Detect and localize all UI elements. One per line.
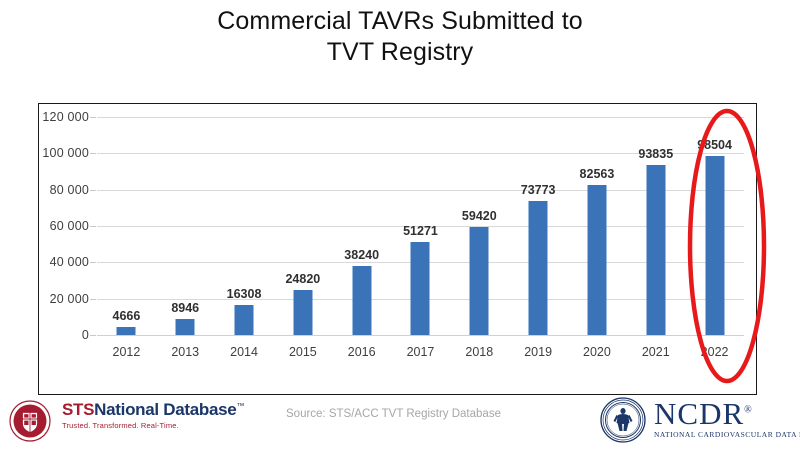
bar-group: 938352021: [626, 117, 685, 335]
y-axis-tick-label: 80 000: [50, 183, 89, 197]
bar-group: 89462013: [156, 117, 215, 335]
x-axis-tick-label: 2017: [407, 345, 435, 359]
bar[interactable]: [646, 165, 665, 335]
bar-value-label: 93835: [638, 147, 673, 161]
bar-value-label: 73773: [521, 183, 556, 197]
y-axis-tick-label: 0: [82, 328, 89, 342]
acc-seal-icon: [600, 397, 646, 443]
y-axis-tick-label: 100 000: [42, 146, 89, 160]
bar-value-label: 82563: [580, 167, 615, 181]
page-title-line-1: Commercial TAVRs Submitted to: [0, 6, 800, 37]
y-axis-tick-label: 20 000: [50, 292, 89, 306]
bar-group: 163082014: [215, 117, 274, 335]
bar-group: 248202015: [273, 117, 332, 335]
y-axis-tick-mark: [90, 153, 96, 154]
bar[interactable]: [587, 185, 606, 335]
sts-logo-prefix: STS: [62, 400, 94, 419]
sts-seal-icon: [9, 400, 51, 442]
ncdr-logo-text: NCDR®: [654, 398, 800, 429]
y-axis-tick-mark: [90, 190, 96, 191]
bar[interactable]: [235, 305, 254, 335]
page-title: Commercial TAVRs Submitted to TVT Regist…: [0, 6, 800, 68]
sts-logo-trademark: ™: [236, 401, 244, 410]
x-axis-tick-label: 2013: [171, 345, 199, 359]
footer: STSNational Database™ Trusted. Transform…: [0, 392, 800, 450]
sts-logo-tagline: Trusted. Transformed. Real-Time.: [62, 422, 244, 430]
y-axis-tick-mark: [90, 299, 96, 300]
y-axis-tick-mark: [90, 117, 96, 118]
bar[interactable]: [411, 242, 430, 335]
x-axis-tick-label: 2020: [583, 345, 611, 359]
x-axis-tick-label: 2018: [465, 345, 493, 359]
x-axis-tick-label: 2019: [524, 345, 552, 359]
bar-value-label: 16308: [227, 287, 262, 301]
x-axis-tick-label: 2016: [348, 345, 376, 359]
bar-group: 512712017: [391, 117, 450, 335]
bar[interactable]: [470, 227, 489, 335]
bar-value-label: 8946: [171, 301, 199, 315]
bar-value-label: 4666: [113, 309, 141, 323]
x-axis-tick-label: 2012: [113, 345, 141, 359]
gridline: [97, 335, 744, 336]
y-axis-tick-label: 120 000: [42, 110, 89, 124]
sts-logo-name: National Database: [94, 400, 236, 419]
ncdr-logo-tagline: NATIONAL CARDIOVASCULAR DATA REGISTRY: [654, 431, 800, 439]
bar-group: 46662012: [97, 117, 156, 335]
y-axis-tick-label: 60 000: [50, 219, 89, 233]
bar[interactable]: [529, 201, 548, 335]
sts-logo-text: STSNational Database™: [62, 401, 244, 418]
bar[interactable]: [176, 319, 195, 335]
x-axis-tick-label: 2015: [289, 345, 317, 359]
y-axis-tick-label: 40 000: [50, 255, 89, 269]
y-axis-tick-mark: [90, 262, 96, 263]
bar[interactable]: [705, 156, 724, 335]
bar-value-label: 38240: [344, 248, 379, 262]
sts-national-database-logo: STSNational Database™ Trusted. Transform…: [62, 401, 244, 430]
source-note: Source: STS/ACC TVT Registry Database: [286, 408, 501, 420]
bar-group: 594202018: [450, 117, 509, 335]
bar-group: 985042022: [685, 117, 744, 335]
bar-value-label: 59420: [462, 209, 497, 223]
y-axis-tick-mark: [90, 335, 96, 336]
y-axis-tick-mark: [90, 226, 96, 227]
bar-value-label: 24820: [285, 272, 320, 286]
page-title-line-2: TVT Registry: [0, 37, 800, 68]
bar-group: 382402016: [332, 117, 391, 335]
bar[interactable]: [293, 290, 312, 335]
bar[interactable]: [117, 327, 136, 335]
x-axis-tick-label: 2014: [230, 345, 258, 359]
ncdr-logo-registered: ®: [744, 405, 753, 416]
ncdr-logo: NCDR® NATIONAL CARDIOVASCULAR DATA REGIS…: [654, 398, 800, 439]
chart-plot-area: 020 00040 00060 00080 000100 000120 000 …: [97, 117, 744, 335]
bar-group: 737732019: [509, 117, 568, 335]
bar-value-label: 98504: [697, 138, 732, 152]
chart-container: 020 00040 00060 00080 000100 000120 000 …: [38, 103, 757, 395]
bar-value-label: 51271: [403, 224, 438, 238]
bar[interactable]: [352, 266, 371, 335]
x-axis-tick-label: 2021: [642, 345, 670, 359]
x-axis-tick-label: 2022: [701, 345, 729, 359]
ncdr-logo-name: NCDR: [654, 396, 744, 431]
bar-group: 825632020: [568, 117, 627, 335]
